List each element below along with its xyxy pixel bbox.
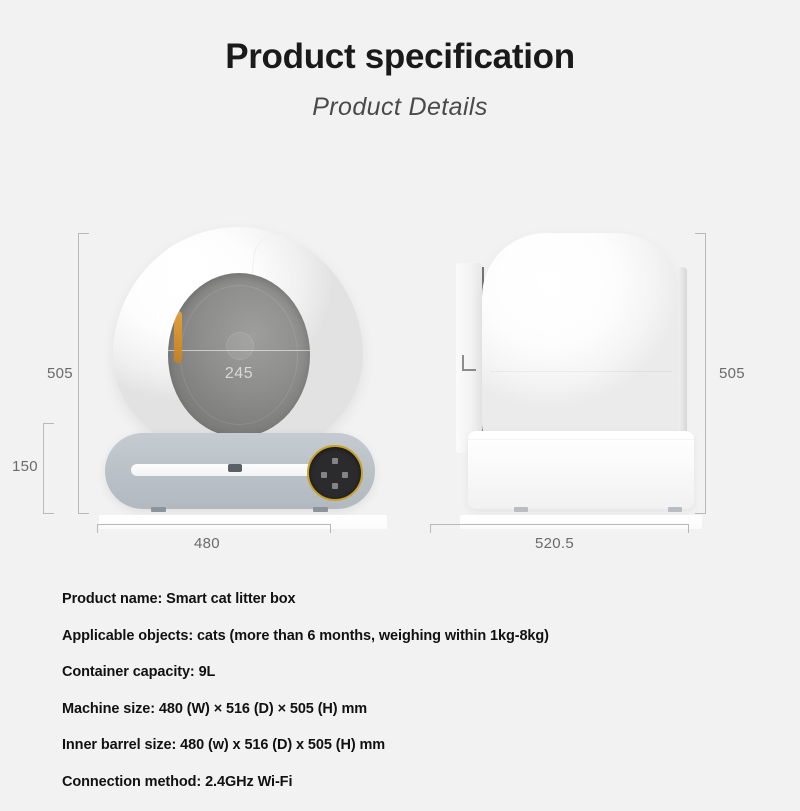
settings-icon: [321, 472, 327, 478]
rear-base-lip: [468, 439, 694, 440]
front-height-tick-bottom: [78, 513, 89, 514]
drum-litter-line: [168, 350, 310, 351]
front-view-platform: [99, 515, 387, 529]
back-depth-tick-right: [688, 524, 689, 533]
rear-panel-notch: [462, 355, 476, 371]
back-height-tick-bottom: [695, 513, 706, 514]
front-width-label: 480: [194, 535, 220, 552]
base-foot-left: [151, 507, 166, 512]
front-width-tick-right: [330, 524, 331, 533]
back-depth-label: 520.5: [535, 535, 574, 552]
power-icon: [332, 458, 338, 464]
clean-icon: [342, 472, 348, 478]
back-height-tick-top: [695, 233, 706, 234]
front-width-dimension-line: [97, 524, 330, 525]
back-depth-dimension-line: [430, 524, 688, 525]
spec-connection-method: Connection method: 2.4GHz Wi-Fi: [62, 775, 742, 790]
rear-edge-strip: [678, 267, 687, 449]
front-base-height-tick-bottom: [43, 513, 54, 514]
front-view-artwork: 245: [105, 227, 375, 517]
back-view-artwork: [452, 227, 732, 517]
front-base-height-tick-top: [43, 423, 54, 424]
litter-box-body: [482, 233, 680, 457]
back-height-dimension-line: [705, 233, 706, 513]
front-width-tick-left: [97, 524, 98, 533]
product-base: [105, 433, 375, 509]
front-base-height-label: 150: [12, 458, 38, 475]
control-panel[interactable]: [307, 445, 363, 501]
front-height-tick-top: [78, 233, 89, 234]
product-diagram: 505 150 245: [0, 215, 800, 560]
wifi-icon: [332, 483, 338, 489]
litter-drum-opening: 245: [168, 273, 310, 437]
page-title: Product specification: [0, 38, 800, 77]
back-view-platform: [460, 515, 702, 529]
body-seam-line: [490, 371, 672, 372]
back-view: 505 520.5: [410, 215, 750, 560]
rear-base: [468, 431, 694, 509]
spec-container-capacity: Container capacity: 9L: [62, 665, 742, 680]
back-height-label: 505: [719, 365, 745, 382]
rear-foot-left: [514, 507, 528, 512]
spec-product-name: Product name: Smart cat litter box: [62, 592, 742, 607]
back-depth-tick-left: [430, 524, 431, 533]
front-view: 505 150 245: [50, 215, 390, 560]
drum-hub: [226, 332, 254, 360]
drum-accent-strip: [174, 311, 182, 363]
base-foot-right: [313, 507, 328, 512]
spec-inner-barrel-size: Inner barrel size: 480 (w) x 516 (D) x 5…: [62, 738, 742, 753]
spec-applicable-objects: Applicable objects: cats (more than 6 mo…: [62, 629, 742, 644]
spec-machine-size: Machine size: 480 (W) × 516 (D) × 505 (H…: [62, 702, 742, 717]
front-base-height-dimension-line: [43, 423, 44, 513]
rear-foot-right: [668, 507, 682, 512]
specification-list: Product name: Smart cat litter box Appli…: [62, 592, 742, 811]
base-handle-notch: [228, 464, 242, 472]
page-header: Product specification Product Details: [0, 0, 800, 122]
front-height-label: 505: [47, 365, 73, 382]
front-height-dimension-line: [78, 233, 79, 513]
page-subtitle: Product Details: [0, 93, 800, 122]
drum-display-value: 245: [168, 365, 310, 383]
